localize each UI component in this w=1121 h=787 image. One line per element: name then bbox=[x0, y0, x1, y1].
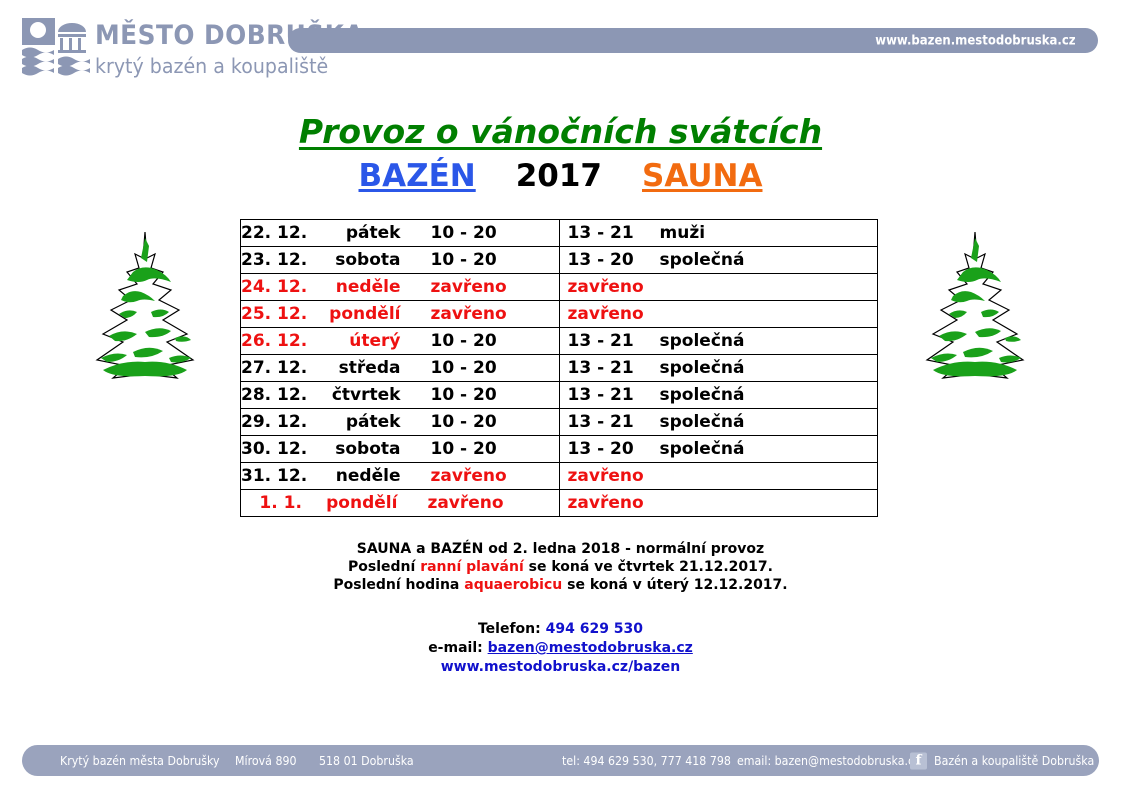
cell-sauna-note: muži bbox=[660, 223, 778, 243]
brand-subtitle: krytý bazén a koupaliště bbox=[95, 56, 373, 76]
pool-cell: 27. 12.středa10 - 20 bbox=[241, 355, 560, 382]
pool-cell: 31. 12.nedělezavřeno bbox=[241, 463, 560, 490]
contact-phone-line: Telefon: 494 629 530 bbox=[0, 620, 1121, 639]
cell-pool-hours: 10 - 20 bbox=[404, 412, 558, 432]
cell-sauna-hours: 13 - 21 bbox=[568, 412, 660, 432]
notes-block: SAUNA a BAZÉN od 2. ledna 2018 - normáln… bbox=[0, 540, 1121, 594]
email-value[interactable]: bazen@mestodobruska.cz bbox=[488, 640, 693, 656]
cell-pool-hours: 10 - 20 bbox=[404, 385, 558, 405]
note-line-2: Poslední ranní plavání se koná ve čtvrte… bbox=[0, 558, 1121, 576]
cell-pool-hours: 10 - 20 bbox=[404, 331, 558, 351]
pool-cell: 29. 12.pátek10 - 20 bbox=[241, 409, 560, 436]
footer-email[interactable]: email: bazen@mestodobruska.cz bbox=[737, 754, 920, 768]
cell-sauna-hours: 13 - 21 bbox=[568, 331, 660, 351]
cell-date: 22. 12. bbox=[241, 223, 309, 243]
cell-date: 23. 12. bbox=[241, 250, 309, 270]
sauna-cell: zavřeno bbox=[559, 490, 878, 517]
table-row: 22. 12.pátek10 - 2013 - 21muži bbox=[241, 220, 878, 247]
contact-block: Telefon: 494 629 530 e-mail: bazen@mesto… bbox=[0, 620, 1121, 677]
cell-sauna-note: společná bbox=[660, 358, 778, 378]
sauna-cell: 13 - 21společná bbox=[559, 328, 878, 355]
cell-sauna-hours: zavřeno bbox=[568, 304, 660, 324]
note3-suffix: se koná v úterý 12.12.2017. bbox=[562, 577, 787, 593]
cell-sauna-note: společná bbox=[660, 331, 778, 351]
cell-sauna-note: společná bbox=[660, 439, 778, 459]
email-label: e-mail: bbox=[428, 640, 487, 656]
sauna-cell: zavřeno bbox=[559, 274, 878, 301]
cell-sauna-hours: zavřeno bbox=[568, 466, 660, 486]
cell-pool-hours: 10 - 20 bbox=[404, 358, 558, 378]
cell-day: úterý bbox=[309, 331, 404, 351]
cell-day: neděle bbox=[309, 277, 404, 297]
cell-day: středa bbox=[309, 358, 404, 378]
note3-highlight: aquaerobicu bbox=[464, 577, 562, 593]
footer-facebook-label[interactable]: Bazén a koupaliště Dobruška bbox=[934, 754, 1094, 768]
page-header: MĚSTO DOBRUŠKA krytý bazén a koupaliště … bbox=[0, 0, 1121, 95]
cell-sauna-hours: 13 - 21 bbox=[568, 223, 660, 243]
cell-date: 28. 12. bbox=[241, 385, 309, 405]
cell-date: 26. 12. bbox=[241, 331, 309, 351]
pool-building-waves-logo bbox=[22, 18, 90, 76]
header-url-bar: www.bazen.mestodobruska.cz bbox=[288, 28, 1098, 53]
facebook-icon[interactable]: f bbox=[910, 752, 927, 769]
table-row: 25. 12.pondělízavřenozavřeno bbox=[241, 301, 878, 328]
pool-cell: 24. 12.nedělezavřeno bbox=[241, 274, 560, 301]
cell-date: 1. 1. bbox=[241, 493, 304, 513]
cell-sauna-hours: 13 - 21 bbox=[568, 358, 660, 378]
footer-telephone[interactable]: tel: 494 629 530, 777 418 798 bbox=[562, 754, 731, 768]
sauna-cell: 13 - 20společná bbox=[559, 247, 878, 274]
cell-date: 27. 12. bbox=[241, 358, 309, 378]
contact-web-line: www.mestodobruska.cz/bazen bbox=[0, 658, 1121, 677]
table-row: 30. 12.sobota10 - 2013 - 20společná bbox=[241, 436, 878, 463]
cell-day: sobota bbox=[309, 439, 404, 459]
cell-pool-hours: zavřeno bbox=[404, 277, 558, 297]
sauna-cell: 13 - 21muži bbox=[559, 220, 878, 247]
cell-day: čtvrtek bbox=[309, 385, 404, 405]
table-row: 23. 12.sobota10 - 2013 - 20společná bbox=[241, 247, 878, 274]
cell-sauna-hours: 13 - 21 bbox=[568, 385, 660, 405]
year-label: 2017 bbox=[516, 158, 602, 194]
pool-cell: 22. 12.pátek10 - 20 bbox=[241, 220, 560, 247]
phone-label: Telefon: bbox=[478, 621, 546, 637]
sauna-cell: 13 - 21společná bbox=[559, 382, 878, 409]
opening-hours-table: 22. 12.pátek10 - 2013 - 21muži23. 12.sob… bbox=[240, 219, 878, 517]
sauna-cell: zavřeno bbox=[559, 301, 878, 328]
website-value[interactable]: www.mestodobruska.cz/bazen bbox=[441, 659, 681, 675]
table-row: 31. 12.nedělezavřenozavřeno bbox=[241, 463, 878, 490]
cell-date: 25. 12. bbox=[241, 304, 309, 324]
cell-day: sobota bbox=[309, 250, 404, 270]
table-row: 29. 12.pátek10 - 2013 - 21společná bbox=[241, 409, 878, 436]
cell-sauna-note: společná bbox=[660, 250, 778, 270]
cell-sauna-note: společná bbox=[660, 385, 778, 405]
table-row: 1. 1.pondělízavřenozavřeno bbox=[241, 490, 878, 517]
cell-pool-hours: zavřeno bbox=[404, 304, 558, 324]
cell-pool-hours: zavřeno bbox=[401, 493, 558, 513]
cell-sauna-hours: zavřeno bbox=[568, 493, 660, 513]
sauna-label: SAUNA bbox=[642, 158, 762, 194]
footer-facility-name: Krytý bazén města Dobrušky bbox=[60, 754, 220, 768]
pool-cell: 28. 12.čtvrtek10 - 20 bbox=[241, 382, 560, 409]
table-row: 26. 12.úterý10 - 2013 - 21společná bbox=[241, 328, 878, 355]
note2-prefix: Poslední bbox=[348, 559, 420, 575]
page-footer: Krytý bazén města Dobrušky Mírová 890 51… bbox=[22, 745, 1099, 776]
cell-pool-hours: 10 - 20 bbox=[404, 223, 558, 243]
pool-cell: 1. 1.pondělízavřeno bbox=[241, 490, 560, 517]
page-title: Provoz o vánočních svátcích bbox=[0, 112, 1121, 151]
title-subheading: BAZÉN2017SAUNA bbox=[0, 158, 1121, 194]
table-row: 27. 12.středa10 - 2013 - 21společná bbox=[241, 355, 878, 382]
footer-city: 518 01 Dobruška bbox=[319, 754, 414, 768]
pool-cell: 25. 12.pondělízavřeno bbox=[241, 301, 560, 328]
cell-day: pondělí bbox=[304, 493, 402, 513]
cell-day: pondělí bbox=[309, 304, 404, 324]
pool-cell: 26. 12.úterý10 - 20 bbox=[241, 328, 560, 355]
footer-street: Mírová 890 bbox=[235, 754, 297, 768]
sauna-cell: zavřeno bbox=[559, 463, 878, 490]
pool-cell: 23. 12.sobota10 - 20 bbox=[241, 247, 560, 274]
pool-label: BAZÉN bbox=[359, 158, 476, 194]
cell-date: 29. 12. bbox=[241, 412, 309, 432]
table-row: 24. 12.nedělezavřenozavřeno bbox=[241, 274, 878, 301]
phone-value[interactable]: 494 629 530 bbox=[546, 621, 643, 637]
note3-prefix: Poslední hodina bbox=[333, 577, 464, 593]
note-line-1: SAUNA a BAZÉN od 2. ledna 2018 - normáln… bbox=[0, 540, 1121, 558]
note-line-3: Poslední hodina aquaerobicu se koná v út… bbox=[0, 576, 1121, 594]
cell-day: pátek bbox=[309, 412, 404, 432]
christmas-tree-icon-right bbox=[913, 228, 1037, 393]
cell-sauna-note: společná bbox=[660, 412, 778, 432]
pool-cell: 30. 12.sobota10 - 20 bbox=[241, 436, 560, 463]
cell-day: pátek bbox=[309, 223, 404, 243]
schedule-rows: 22. 12.pátek10 - 2013 - 21muži23. 12.sob… bbox=[241, 220, 878, 517]
header-website-url[interactable]: www.bazen.mestodobruska.cz bbox=[876, 33, 1076, 48]
sauna-cell: 13 - 21společná bbox=[559, 409, 878, 436]
sauna-cell: 13 - 21společná bbox=[559, 355, 878, 382]
cell-date: 30. 12. bbox=[241, 439, 309, 459]
note2-suffix: se koná ve čtvrtek 21.12.2017. bbox=[524, 559, 773, 575]
cell-date: 24. 12. bbox=[241, 277, 309, 297]
sauna-cell: 13 - 20společná bbox=[559, 436, 878, 463]
cell-pool-hours: zavřeno bbox=[404, 466, 558, 486]
cell-sauna-hours: zavřeno bbox=[568, 277, 660, 297]
contact-email-line: e-mail: bazen@mestodobruska.cz bbox=[0, 639, 1121, 658]
table-row: 28. 12.čtvrtek10 - 2013 - 21společná bbox=[241, 382, 878, 409]
note2-highlight: ranní plavání bbox=[420, 559, 524, 575]
cell-pool-hours: 10 - 20 bbox=[404, 250, 558, 270]
cell-day: neděle bbox=[309, 466, 404, 486]
christmas-tree-icon-left bbox=[83, 228, 207, 393]
cell-date: 31. 12. bbox=[241, 466, 309, 486]
cell-sauna-hours: 13 - 20 bbox=[568, 439, 660, 459]
cell-pool-hours: 10 - 20 bbox=[404, 439, 558, 459]
cell-sauna-hours: 13 - 20 bbox=[568, 250, 660, 270]
